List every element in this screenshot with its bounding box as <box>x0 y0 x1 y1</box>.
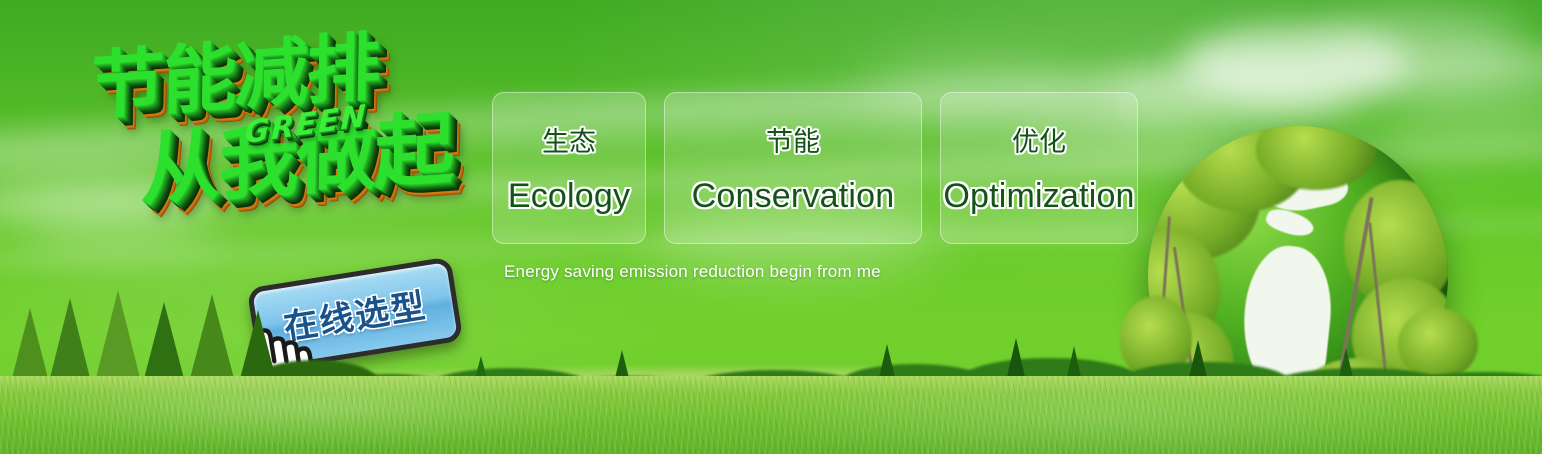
feature-card-en-label: Ecology <box>508 177 630 216</box>
online-selection-cta[interactable]: 在线选型 <box>247 256 464 372</box>
feature-card-row: 生态 Ecology 节能 Conservation 优化 Optimizati… <box>492 92 1138 244</box>
feature-card-en-label: Conservation <box>692 177 895 216</box>
feature-card-en-label: Optimization <box>943 177 1134 216</box>
grass-field-icon <box>0 376 1542 454</box>
headline-3d: 节能减排 从我做起 GREEN <box>88 22 503 279</box>
feature-card-ecology[interactable]: 生态 Ecology <box>492 92 646 244</box>
feature-card-cn-label: 优化 <box>1012 120 1066 159</box>
feature-card-conservation[interactable]: 节能 Conservation <box>664 92 922 244</box>
feature-card-cn-label: 节能 <box>766 120 820 159</box>
eco-hero-banner: 节能减排 从我做起 GREEN 在线选型 生态 Ecology 节能 Conse… <box>0 0 1542 454</box>
tagline-text: Energy saving emission reduction begin f… <box>504 262 881 282</box>
feature-card-optimization[interactable]: 优化 Optimization <box>940 92 1138 244</box>
feature-card-cn-label: 生态 <box>542 120 596 159</box>
